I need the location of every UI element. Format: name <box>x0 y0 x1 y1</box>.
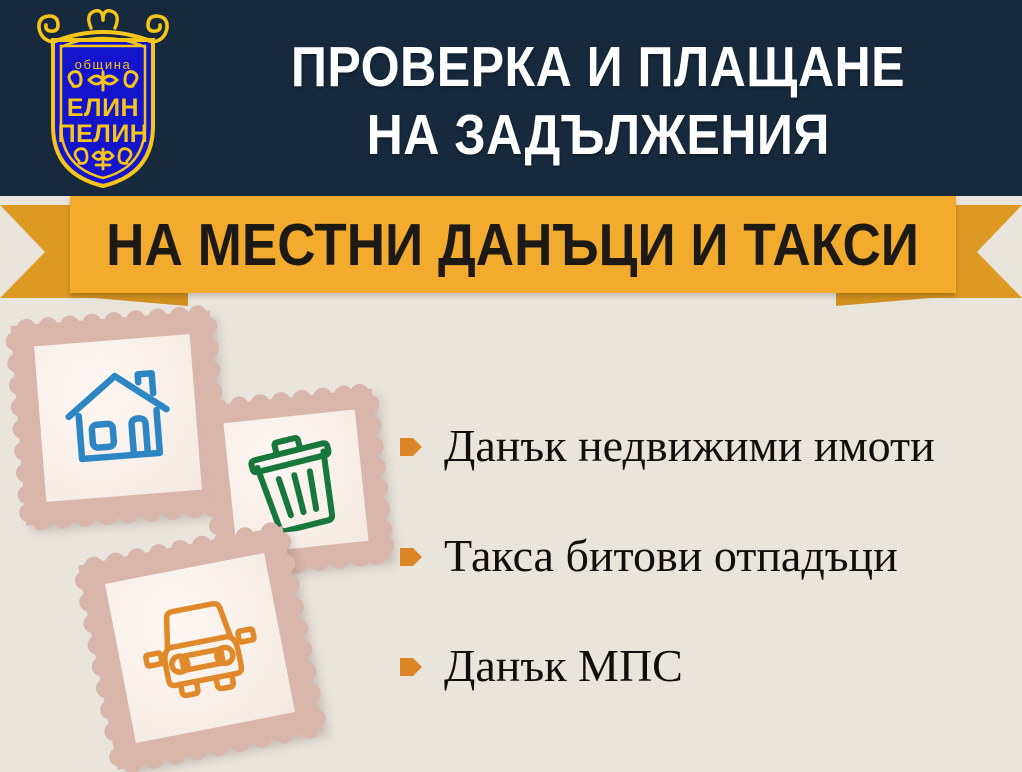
stamp-card-house <box>10 310 225 525</box>
page-title-line-2: НА ЗАДЪЛЖЕНИЯ <box>366 101 829 169</box>
svg-text:община: община <box>75 57 132 72</box>
bullet-arrow-icon <box>400 655 422 679</box>
house-icon-wrap <box>34 334 202 502</box>
header-bar: община ЕЛИН ПЕЛИН <box>0 0 1022 196</box>
bullet-arrow-icon <box>400 545 422 569</box>
subtitle-ribbon: НА МЕСТНИ ДАНЪЦИ И ТАКСИ <box>0 196 1022 314</box>
car-front-icon-wrap <box>105 553 295 743</box>
svg-text:ПЕЛИН: ПЕЛИН <box>58 120 149 148</box>
poster-canvas: община ЕЛИН ПЕЛИН <box>0 0 1022 772</box>
header-title-block: ПРОВЕРКА И ПЛАЩАНЕ НА ЗАДЪЛЖЕНИЯ <box>188 16 1008 186</box>
municipality-logo: община ЕЛИН ПЕЛИН <box>33 6 173 190</box>
list-item-label: Такса битови отпадъци <box>444 530 898 582</box>
list-item: Данък МПС <box>400 638 1010 694</box>
ribbon-subtitle: НА МЕСТНИ ДАНЪЦИ И ТАКСИ <box>107 214 920 276</box>
bullet-arrow-icon <box>400 435 422 459</box>
stamp-card-car <box>78 526 322 770</box>
svg-text:ЕЛИН: ЕЛИН <box>67 94 139 122</box>
list-item: Такса битови отпадъци <box>400 528 1010 584</box>
list-item: Данък недвижими имоти <box>400 418 1010 474</box>
tax-type-list: Данък недвижими имоти Такса битови отпад… <box>400 418 1010 694</box>
page-title-line-1: ПРОВЕРКА И ПЛАЩАНЕ <box>291 33 905 101</box>
list-item-label: Данък недвижими имоти <box>444 420 935 472</box>
list-item-label: Данък МПС <box>444 640 683 692</box>
ribbon-face: НА МЕСТНИ ДАНЪЦИ И ТАКСИ <box>70 196 956 293</box>
